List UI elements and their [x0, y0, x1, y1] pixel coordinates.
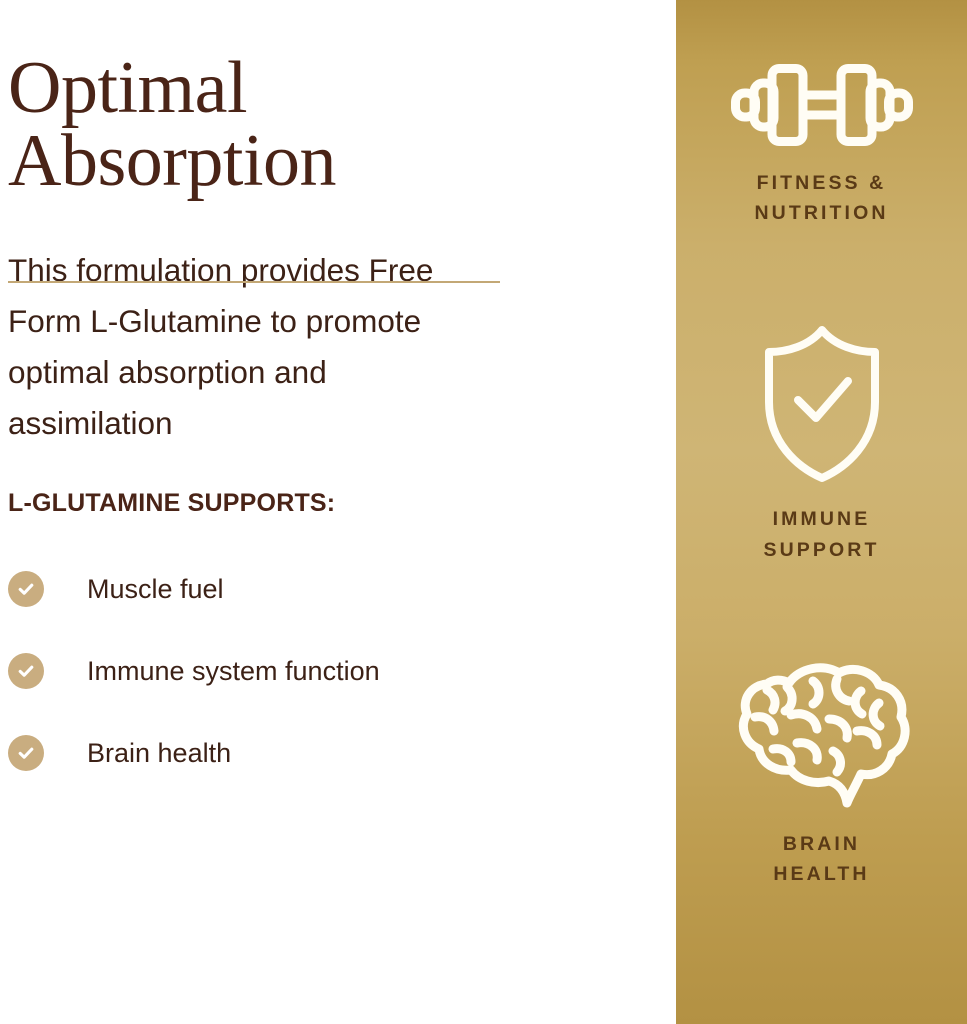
benefit-item-immune: IMMUNE SUPPORT — [676, 324, 967, 564]
benefit-label-immune-line-1: IMMUNE — [764, 504, 880, 534]
check-icon — [8, 735, 44, 771]
product-feature-panel: Optimal Absorption This formulation prov… — [0, 0, 967, 1024]
left-content-column: Optimal Absorption This formulation prov… — [0, 0, 676, 1024]
body-line-3: optimal absorption and — [8, 347, 608, 398]
benefit-item-brain: BRAIN HEALTH — [676, 657, 967, 889]
benefit-item-fitness: FITNESS & NUTRITION — [676, 62, 967, 228]
benefit-label-brain: BRAIN HEALTH — [773, 829, 869, 889]
benefit-label-brain-line-2: HEALTH — [773, 859, 869, 889]
list-item-label: Immune system function — [87, 658, 380, 685]
benefit-label-fitness-line-2: NUTRITION — [754, 198, 888, 228]
dumbbell-icon — [729, 62, 915, 148]
list-item-label: Brain health — [87, 740, 231, 767]
list-item: Muscle fuel — [8, 548, 656, 630]
list-item: Brain health — [8, 712, 656, 794]
body-paragraph: This formulation provides Free Form L-Gl… — [8, 197, 608, 449]
divider — [8, 281, 500, 283]
check-icon — [8, 653, 44, 689]
benefit-label-brain-line-1: BRAIN — [773, 829, 869, 859]
page-title-line-1: Optimal — [8, 52, 656, 125]
benefit-label-immune-line-2: SUPPORT — [764, 535, 880, 565]
benefit-label-immune: IMMUNE SUPPORT — [764, 504, 880, 564]
benefit-label-fitness: FITNESS & NUTRITION — [754, 168, 888, 228]
body-line-1: This formulation provides Free — [8, 245, 608, 296]
list-item-label: Muscle fuel — [87, 576, 224, 603]
shield-check-icon — [757, 324, 887, 484]
benefits-sidebar: FITNESS & NUTRITION IMMUNE SUPPORT — [676, 0, 967, 1024]
body-line-2: Form L-Glutamine to promote — [8, 296, 608, 347]
page-title-line-2: Absorption — [8, 125, 656, 198]
check-icon — [8, 571, 44, 607]
body-line-4: assimilation — [8, 398, 608, 449]
brain-icon — [729, 657, 915, 809]
page-title: Optimal Absorption — [8, 0, 656, 197]
supports-list: Muscle fuel Immune system function Brain… — [8, 518, 656, 794]
list-item: Immune system function — [8, 630, 656, 712]
supports-heading: L-GLUTAMINE SUPPORTS: — [8, 449, 656, 518]
benefit-label-fitness-line-1: FITNESS & — [754, 168, 888, 198]
